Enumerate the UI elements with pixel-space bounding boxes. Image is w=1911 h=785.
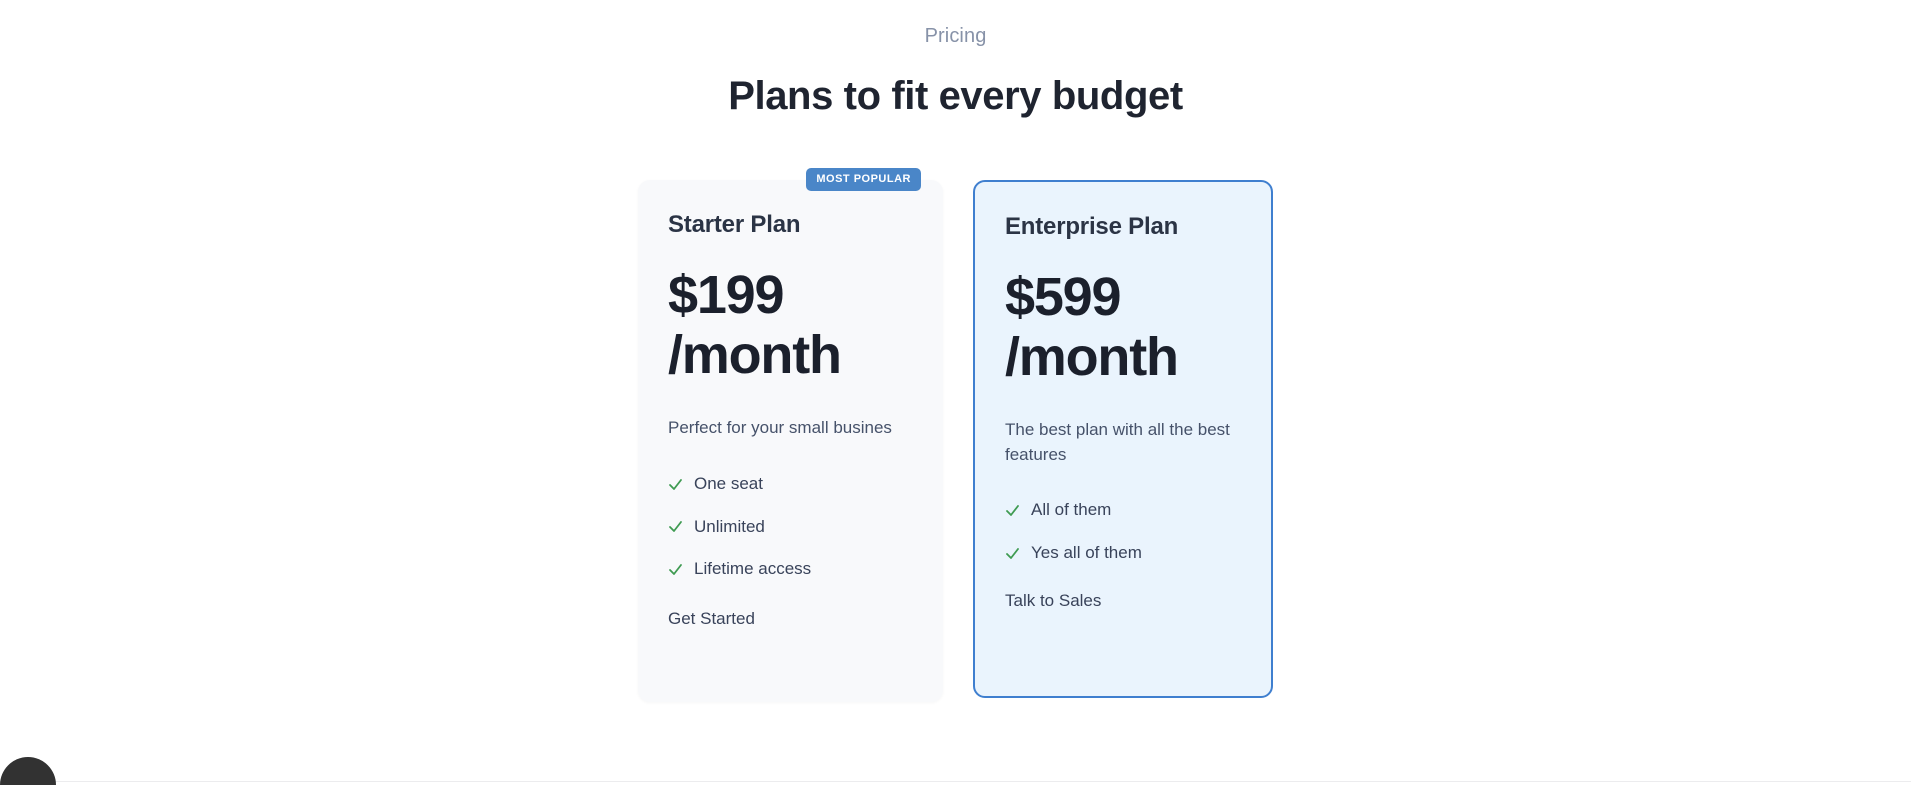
- plan-description-enterprise: The best plan with all the best features: [1005, 418, 1241, 467]
- feature-list-starter: One seat Unlimited Lifetime access: [668, 473, 913, 582]
- talk-to-sales-button[interactable]: Talk to Sales: [1005, 589, 1101, 613]
- feature-label: All of them: [1031, 499, 1111, 522]
- price-period: /month: [1005, 327, 1241, 387]
- pricing-card-list: MOST POPULAR Starter Plan $199 /month Pe…: [0, 180, 1911, 702]
- plan-price-starter: $199 /month: [668, 265, 913, 386]
- most-popular-badge: MOST POPULAR: [806, 168, 921, 191]
- feature-label: Lifetime access: [694, 558, 811, 581]
- price-period: /month: [668, 325, 913, 385]
- pricing-card-enterprise[interactable]: Enterprise Plan $599 /month The best pla…: [973, 180, 1273, 698]
- eyebrow-label: Pricing: [0, 22, 1911, 50]
- pricing-card-starter[interactable]: MOST POPULAR Starter Plan $199 /month Pe…: [638, 180, 943, 702]
- check-icon: [1005, 503, 1020, 518]
- price-amount: $599: [1005, 267, 1120, 327]
- check-icon: [668, 562, 683, 577]
- list-item: One seat: [668, 473, 913, 496]
- price-amount: $199: [668, 265, 783, 325]
- check-icon: [668, 477, 683, 492]
- get-started-button[interactable]: Get Started: [668, 607, 755, 631]
- plan-price-enterprise: $599 /month: [1005, 267, 1241, 388]
- page-bottom-divider: [0, 781, 1911, 782]
- plan-name-starter: Starter Plan: [668, 210, 913, 240]
- list-item: Unlimited: [668, 516, 913, 539]
- list-item: Lifetime access: [668, 558, 913, 581]
- check-icon: [1005, 546, 1020, 561]
- feature-label: Unlimited: [694, 516, 765, 539]
- pricing-page: Pricing Plans to fit every budget MOST P…: [0, 0, 1911, 785]
- check-icon: [668, 519, 683, 534]
- list-item: All of them: [1005, 499, 1241, 522]
- list-item: Yes all of them: [1005, 542, 1241, 565]
- feature-list-enterprise: All of them Yes all of them: [1005, 499, 1241, 565]
- feature-label: One seat: [694, 473, 763, 496]
- page-title: Plans to fit every budget: [0, 72, 1911, 120]
- plan-description-starter: Perfect for your small busines: [668, 416, 913, 441]
- feature-label: Yes all of them: [1031, 542, 1142, 565]
- plan-name-enterprise: Enterprise Plan: [1005, 212, 1241, 242]
- page-header: Pricing Plans to fit every budget: [0, 0, 1911, 120]
- corner-avatar-bubble[interactable]: [0, 757, 56, 785]
